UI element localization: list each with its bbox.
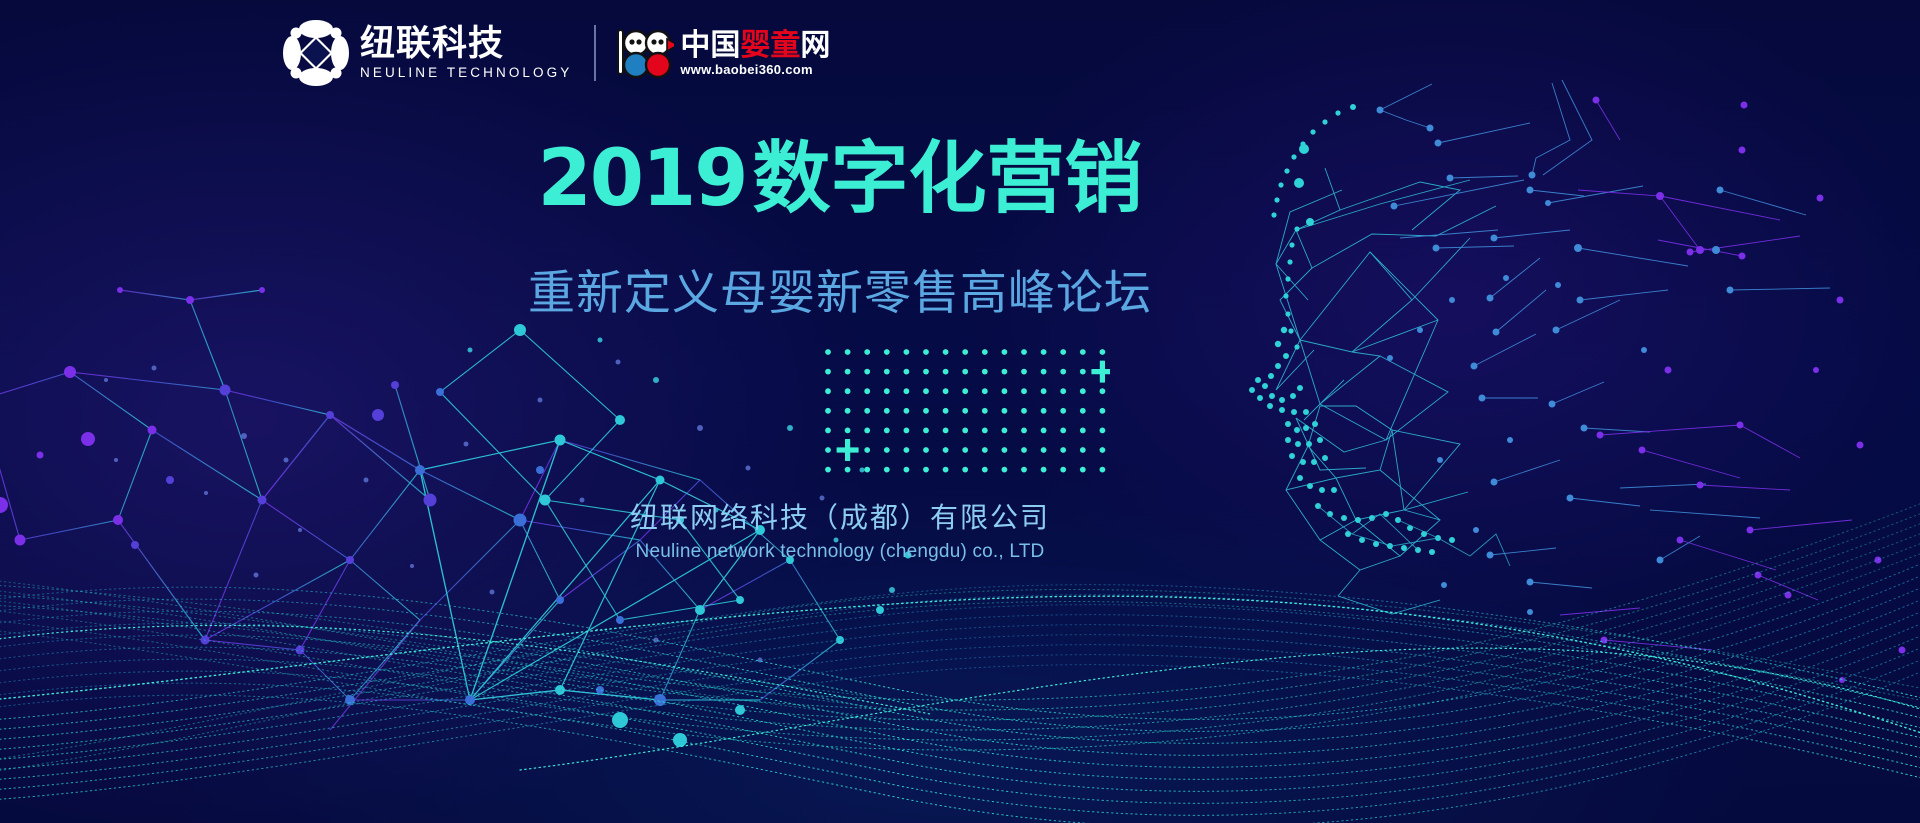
neuline-logo-text: 纽联科技 NEULINE TECHNOLOGY [360,26,572,81]
dot-matrix-grid [822,346,1110,478]
baobei360-url: www.baobei360.com [680,63,830,76]
banner-canvas: 纽联科技 NEULINE TECHNOLOGY [0,0,1920,823]
neuline-brand-en: NEULINE TECHNOLOGY [360,65,572,80]
neuline-diamond-logo-icon [282,19,350,87]
baobei360-logo-text: 中国婴童网 www.baobei360.com [680,31,830,76]
logo-divider [594,25,596,81]
baobei360-brand-cn: 中国婴童网 [680,31,830,61]
page-title: 2019数字化营销 [0,140,1800,218]
company-name-en: Neuline network technology (chengdu) co.… [0,541,1800,563]
title-year: 2019 [537,134,746,224]
neuline-brand-cn: 纽联科技 [360,26,572,63]
baobei360-owl-logo-icon [614,25,674,81]
page-subtitle: 重新定义母婴新零售高峰论坛 [0,270,1800,317]
title-main: 数字化营销 [753,134,1143,224]
company-block: 纽联网络科技（成都）有限公司 Neuline network technolog… [0,500,1800,563]
company-name-cn: 纽联网络科技（成都）有限公司 [0,500,1800,535]
baobei360-logo: 中国婴童网 www.baobei360.com [614,25,830,81]
header-logo-bar: 纽联科技 NEULINE TECHNOLOGY [282,17,830,89]
